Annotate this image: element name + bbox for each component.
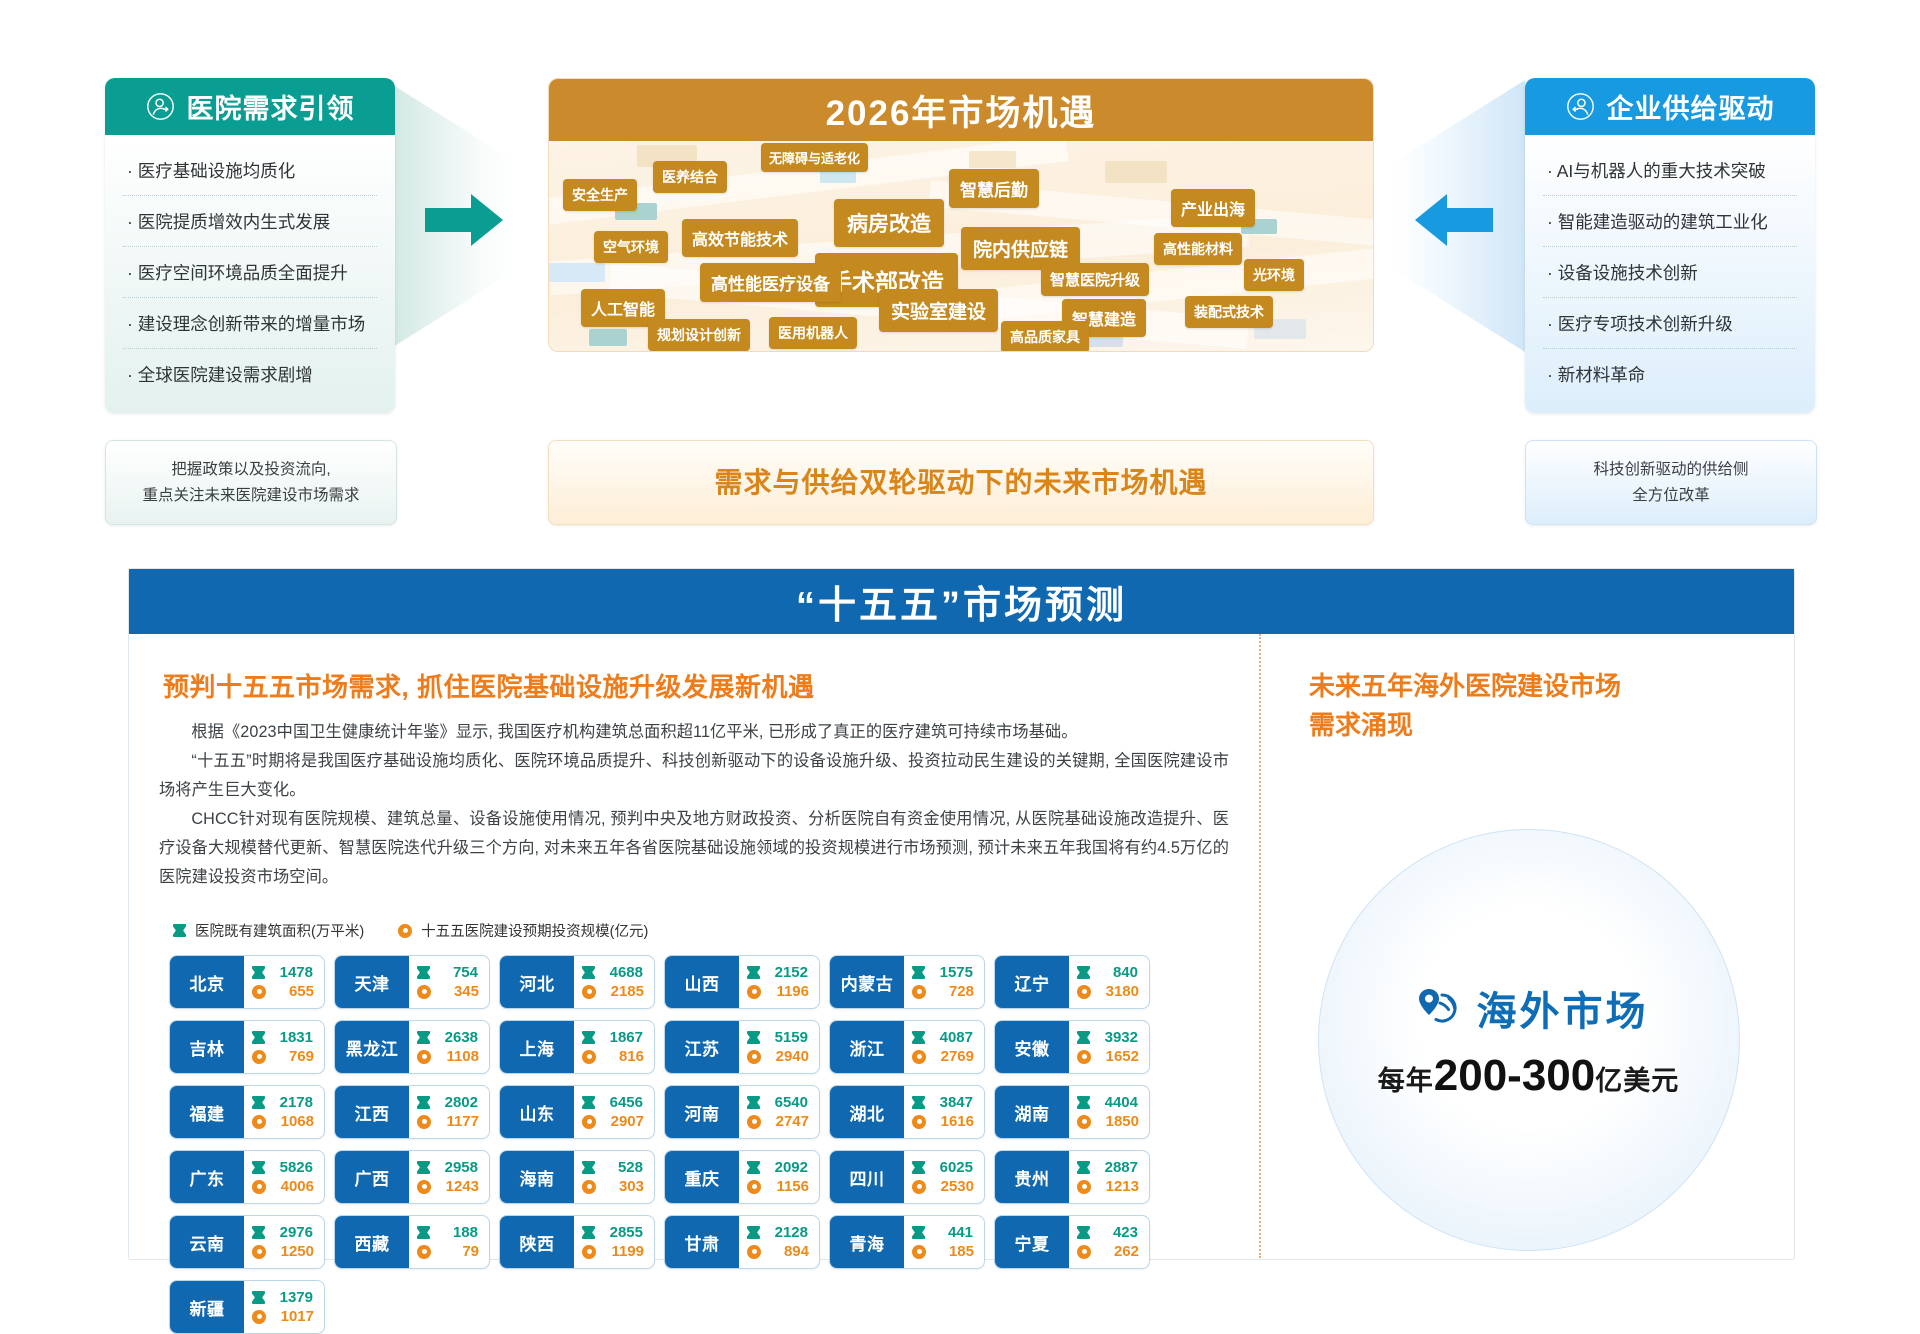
left-footer-note: 把握政策以及投资流向, 重点关注未来医院建设市场需求 (105, 440, 397, 525)
supply-item: · 设备设施技术创新 (1543, 247, 1797, 298)
province-investment-value: 2769 (932, 1048, 974, 1065)
province-values: 754345 (409, 956, 489, 1008)
area-marker-icon (747, 1226, 760, 1239)
province-area-value: 441 (931, 1224, 973, 1241)
province-values: 1831769 (244, 1021, 324, 1073)
province-investment-value: 303 (602, 1178, 644, 1195)
forecast-left-column: 预判十五五市场需求, 抓住医院基础设施升级发展新机遇 根据《2023中国卫生健康… (129, 634, 1259, 1258)
province-card: 西藏18879 (334, 1215, 490, 1269)
province-investment-value: 769 (272, 1048, 314, 1065)
overseas-title-line1: 未来五年海外医院建设市场 (1309, 667, 1794, 706)
left-footer-line2: 重点关注未来医院建设市场需求 (142, 483, 359, 509)
investment-marker-icon (417, 1245, 431, 1259)
overseas-title-line2: 需求涌现 (1309, 706, 1794, 745)
keyword-tag: 医用机器人 (769, 317, 857, 349)
legend-item-area: 医院既有建筑面积(万平米) (173, 920, 364, 941)
province-investment-row: 345 (417, 983, 479, 1000)
province-values: 38471616 (904, 1086, 984, 1138)
province-area-row: 5159 (747, 1029, 809, 1046)
province-area-row: 3847 (912, 1094, 974, 1111)
province-card: 湖北38471616 (829, 1085, 985, 1139)
province-investment-value: 1652 (1097, 1048, 1139, 1065)
province-investment-row: 1177 (417, 1113, 479, 1130)
province-name: 河北 (500, 956, 574, 1008)
investment-marker-icon (912, 1115, 926, 1129)
province-investment-row: 4006 (252, 1178, 314, 1195)
province-values: 40872769 (904, 1021, 984, 1073)
province-investment-row: 1250 (252, 1243, 314, 1260)
province-name: 海南 (500, 1151, 574, 1203)
arrow-right-icon (425, 192, 503, 248)
province-investment-value: 1156 (767, 1178, 809, 1195)
market-forecast-body: 预判十五五市场需求, 抓住医院基础设施升级发展新机遇 根据《2023中国卫生健康… (129, 634, 1794, 1258)
province-card: 天津754345 (334, 955, 490, 1009)
block-decoration (1105, 161, 1167, 183)
investment-marker-icon (582, 1115, 596, 1129)
amount-value: 200-300 (1434, 1051, 1595, 1100)
province-investment-value: 3180 (1097, 983, 1139, 1000)
keyword-tag: 高性能材料 (1154, 233, 1242, 265)
province-area-row: 4404 (1077, 1094, 1139, 1111)
province-area-row: 2152 (747, 964, 809, 981)
keyword-tag: 医养结合 (653, 161, 727, 193)
province-area-value: 2887 (1096, 1159, 1138, 1176)
province-card: 四川60252530 (829, 1150, 985, 1204)
investment-marker-icon (252, 1180, 266, 1194)
province-investment-row: 1017 (252, 1308, 314, 1325)
area-marker-icon (747, 1161, 760, 1174)
province-area-row: 1867 (582, 1029, 644, 1046)
province-values: 58264006 (244, 1151, 324, 1203)
overseas-circle: 海外市场 每年200-300亿美元 (1318, 829, 1740, 1251)
province-area-row: 2976 (252, 1224, 314, 1241)
area-marker-icon (252, 1226, 265, 1239)
province-investment-row: 769 (252, 1048, 314, 1065)
province-investment-row: 2185 (582, 983, 644, 1000)
province-area-row: 4688 (582, 964, 644, 981)
province-card: 陕西28551199 (499, 1215, 655, 1269)
demand-item: · 医院提质增效内生式发展 (123, 196, 377, 247)
investment-marker-icon (1077, 985, 1091, 999)
province-area-value: 4087 (931, 1029, 973, 1046)
province-area-value: 2092 (766, 1159, 808, 1176)
province-name: 河南 (665, 1086, 739, 1138)
province-investment-value: 1243 (437, 1178, 479, 1195)
market-forecast-header: “十五五”市场预测 (129, 569, 1794, 634)
demand-item: · 全球医院建设需求剧增 (123, 349, 377, 399)
investment-marker-icon (912, 1245, 926, 1259)
province-investment-value: 2185 (602, 983, 644, 1000)
market-opportunity-header: 2026年市场机遇 (549, 79, 1373, 141)
area-marker-icon (582, 1226, 595, 1239)
investment-marker-icon (747, 985, 761, 999)
hospital-demand-panel-title: 医院需求引领 (187, 87, 355, 126)
province-values: 18879 (409, 1216, 489, 1268)
investment-marker-icon (747, 1115, 761, 1129)
province-area-value: 2128 (766, 1224, 808, 1241)
province-investment-value: 2530 (932, 1178, 974, 1195)
province-area-row: 2178 (252, 1094, 314, 1111)
province-investment-value: 1616 (932, 1113, 974, 1130)
area-marker-icon (417, 1096, 430, 1109)
province-name: 山东 (500, 1086, 574, 1138)
province-area-row: 1379 (252, 1289, 314, 1306)
province-values: 64562907 (574, 1086, 654, 1138)
area-marker-icon (912, 966, 925, 979)
area-marker-icon (417, 1161, 430, 1174)
investment-marker-icon (417, 1115, 431, 1129)
province-area-value: 528 (601, 1159, 643, 1176)
province-investment-value: 345 (437, 983, 479, 1000)
enterprise-supply-panel-title: 企业供给驱动 (1607, 87, 1775, 126)
province-investment-value: 894 (767, 1243, 809, 1260)
province-name: 福建 (170, 1086, 244, 1138)
right-footer-line1: 科技创新驱动的供给侧 (1593, 457, 1748, 483)
province-investment-row: 1652 (1077, 1048, 1139, 1065)
province-card: 辽宁8403180 (994, 955, 1150, 1009)
province-name: 云南 (170, 1216, 244, 1268)
province-investment-row: 2747 (747, 1113, 809, 1130)
supply-item: · 新材料革命 (1543, 349, 1797, 399)
investment-marker-icon (747, 1050, 761, 1064)
province-investment-value: 2907 (602, 1113, 644, 1130)
province-values: 44041850 (1069, 1086, 1149, 1138)
province-name: 甘肃 (665, 1216, 739, 1268)
area-marker-icon (252, 1031, 265, 1044)
arrow-left-icon (1415, 192, 1493, 248)
block-decoration (589, 329, 627, 346)
area-marker-icon (912, 1161, 925, 1174)
province-area-value: 2976 (271, 1224, 313, 1241)
province-values: 528303 (574, 1151, 654, 1203)
province-area-value: 2855 (601, 1224, 643, 1241)
market-forecast-title: “十五五”市场预测 (796, 574, 1127, 629)
amount-suffix: 亿美元 (1595, 1066, 1679, 1096)
investment-marker-icon (912, 1050, 926, 1064)
overseas-circle-wrap: 海外市场 每年200-300亿美元 (1318, 829, 1738, 1249)
province-card: 海南528303 (499, 1150, 655, 1204)
province-area-value: 188 (436, 1224, 478, 1241)
province-area-value: 4404 (1096, 1094, 1138, 1111)
amount-prefix: 每年 (1378, 1066, 1434, 1096)
province-area-row: 2092 (747, 1159, 809, 1176)
province-area-row: 528 (582, 1159, 644, 1176)
enterprise-supply-panel-body: · AI与机器人的重大技术突破 · 智能建造驱动的建筑工业化 · 设备设施技术创… (1525, 135, 1815, 413)
supply-item: · 智能建造驱动的建筑工业化 (1543, 196, 1797, 247)
province-values: 8403180 (1069, 956, 1149, 1008)
province-card: 江苏51592940 (664, 1020, 820, 1074)
province-area-value: 5159 (766, 1029, 808, 1046)
investment-marker-icon (582, 1245, 596, 1259)
province-name: 江西 (335, 1086, 409, 1138)
province-area-value: 5826 (271, 1159, 313, 1176)
province-grid: 北京1478655天津754345河北46882185山西21521196内蒙古… (169, 955, 1229, 1334)
province-area-value: 1478 (271, 964, 313, 981)
province-values: 21521196 (739, 956, 819, 1008)
province-area-row: 2638 (417, 1029, 479, 1046)
overseas-label-row: 海外市场 (1409, 979, 1649, 1037)
province-area-value: 4688 (601, 964, 643, 981)
province-values: 1867816 (574, 1021, 654, 1073)
province-card: 福建21781068 (169, 1085, 325, 1139)
province-area-value: 1575 (931, 964, 973, 981)
investment-marker-icon (582, 985, 596, 999)
province-area-row: 6025 (912, 1159, 974, 1176)
province-area-value: 3847 (931, 1094, 973, 1111)
investment-marker-icon (1077, 1180, 1091, 1194)
province-name: 广西 (335, 1151, 409, 1203)
user-supply-icon (1566, 92, 1595, 121)
investment-marker-icon (1077, 1050, 1091, 1064)
province-name: 辽宁 (995, 956, 1069, 1008)
province-investment-row: 816 (582, 1048, 644, 1065)
province-investment-row: 1068 (252, 1113, 314, 1130)
area-marker-icon (912, 1226, 925, 1239)
province-investment-row: 303 (582, 1178, 644, 1195)
province-name: 上海 (500, 1021, 574, 1073)
province-investment-row: 2769 (912, 1048, 974, 1065)
investment-marker-icon (1077, 1245, 1091, 1259)
province-area-value: 754 (436, 964, 478, 981)
demand-item: · 医疗基础设施均质化 (123, 145, 377, 196)
province-investment-value: 1213 (1097, 1178, 1139, 1195)
province-area-value: 6540 (766, 1094, 808, 1111)
province-area-row: 1575 (912, 964, 974, 981)
province-area-row: 3932 (1077, 1029, 1139, 1046)
investment-marker-icon (417, 985, 431, 999)
province-values: 1575728 (904, 956, 984, 1008)
province-card: 黑龙江26381108 (334, 1020, 490, 1074)
investment-marker-icon (912, 1180, 926, 1194)
investment-marker-icon (912, 985, 926, 999)
province-card: 上海1867816 (499, 1020, 655, 1074)
province-name: 贵州 (995, 1151, 1069, 1203)
forecast-subtitle: 预判十五五市场需求, 抓住医院基础设施升级发展新机遇 (163, 667, 1229, 704)
area-marker-icon (252, 1096, 265, 1109)
province-investment-row: 1196 (747, 983, 809, 1000)
province-investment-row: 894 (747, 1243, 809, 1260)
province-values: 51592940 (739, 1021, 819, 1073)
province-values: 20921156 (739, 1151, 819, 1203)
province-name: 北京 (170, 956, 244, 1008)
province-investment-value: 2747 (767, 1113, 809, 1130)
province-investment-row: 3180 (1077, 983, 1139, 1000)
investment-marker-icon (417, 1180, 431, 1194)
forecast-paragraph: “十五五”时期将是我国医疗基础设施均质化、医院环境品质提升、科技创新驱动下的设备… (159, 747, 1229, 805)
keyword-tag: 高品质家具 (1001, 321, 1089, 351)
province-card: 内蒙古1575728 (829, 955, 985, 1009)
province-investment-value: 79 (437, 1243, 479, 1260)
area-marker-icon (1077, 966, 1090, 979)
block-decoration (969, 151, 1016, 168)
province-values: 441185 (904, 1216, 984, 1268)
province-area-row: 2855 (582, 1224, 644, 1241)
province-card: 浙江40872769 (829, 1020, 985, 1074)
province-investment-value: 4006 (272, 1178, 314, 1195)
province-area-row: 2958 (417, 1159, 479, 1176)
forecast-right-column: 未来五年海外医院建设市场 需求涌现 海外市场 (1259, 634, 1794, 1258)
province-name: 西藏 (335, 1216, 409, 1268)
area-marker-icon (417, 1031, 430, 1044)
province-investment-row: 655 (252, 983, 314, 1000)
right-footer-note: 科技创新驱动的供给侧 全方位改革 (1525, 440, 1817, 525)
province-values: 2128894 (739, 1216, 819, 1268)
province-investment-row: 1213 (1077, 1178, 1139, 1195)
supply-item: · 医疗专项技术创新升级 (1543, 298, 1797, 349)
province-area-row: 840 (1077, 964, 1139, 981)
investment-marker-icon (252, 1310, 266, 1324)
keyword-tag: 高性能医疗设备 (700, 263, 841, 302)
market-opportunity-title: 2026年市场机遇 (826, 85, 1097, 136)
investment-marker-icon (417, 1050, 431, 1064)
province-card: 河北46882185 (499, 955, 655, 1009)
province-values: 28021177 (409, 1086, 489, 1138)
province-area-value: 423 (1096, 1224, 1138, 1241)
province-card: 吉林1831769 (169, 1020, 325, 1074)
hospital-demand-panel-body: · 医疗基础设施均质化 · 医院提质增效内生式发展 · 医疗空间环境品质全面提升… (105, 135, 395, 413)
top-section: 医院需求引领 · 医疗基础设施均质化 · 医院提质增效内生式发展 · 医疗空间环… (0, 0, 1920, 545)
province-investment-value: 262 (1097, 1243, 1139, 1260)
province-area-value: 1831 (271, 1029, 313, 1046)
province-investment-row: 2530 (912, 1178, 974, 1195)
overseas-title: 未来五年海外医院建设市场 需求涌现 (1309, 667, 1794, 745)
province-name: 陕西 (500, 1216, 574, 1268)
legend-item-investment: 十五五医院建设预期投资规模(亿元) (398, 920, 648, 941)
province-name: 内蒙古 (830, 956, 904, 1008)
province-values: 60252530 (904, 1151, 984, 1203)
legend-label-investment: 十五五医院建设预期投资规模(亿元) (421, 920, 648, 941)
province-name: 黑龙江 (335, 1021, 409, 1073)
area-marker-icon (582, 1031, 595, 1044)
province-investment-value: 185 (932, 1243, 974, 1260)
province-card: 广东58264006 (169, 1150, 325, 1204)
province-name: 天津 (335, 956, 409, 1008)
right-footer-line2: 全方位改革 (1632, 483, 1710, 509)
keyword-tag: 病房改造 (834, 199, 944, 247)
province-area-row: 6540 (747, 1094, 809, 1111)
province-investment-value: 2940 (767, 1048, 809, 1065)
center-footer-text: 需求与供给双轮驱动下的未来市场机遇 (714, 470, 1207, 496)
keyword-tag: 规划设计创新 (648, 319, 750, 351)
left-footer-line1: 把握政策以及投资流向, (171, 457, 330, 483)
province-investment-value: 1850 (1097, 1113, 1139, 1130)
province-name: 安徽 (995, 1021, 1069, 1073)
province-card: 宁夏423262 (994, 1215, 1150, 1269)
area-marker-icon (1077, 1096, 1090, 1109)
province-values: 1478655 (244, 956, 324, 1008)
province-area-row: 188 (417, 1224, 479, 1241)
area-marker-icon (582, 1161, 595, 1174)
province-investment-row: 728 (912, 983, 974, 1000)
province-investment-row: 1850 (1077, 1113, 1139, 1130)
area-marker-icon (1077, 1031, 1090, 1044)
demand-item: · 建设理念创新带来的增量市场 (123, 298, 377, 349)
investment-marker-icon (252, 985, 266, 999)
province-investment-value: 1250 (272, 1243, 314, 1260)
province-area-value: 840 (1096, 964, 1138, 981)
user-demand-icon (146, 92, 175, 121)
province-values: 29581243 (409, 1151, 489, 1203)
province-area-value: 3932 (1096, 1029, 1138, 1046)
area-marker-icon (252, 966, 265, 979)
province-investment-row: 2940 (747, 1048, 809, 1065)
province-investment-row: 79 (417, 1243, 479, 1260)
province-card: 安徽39321652 (994, 1020, 1150, 1074)
investment-marker-icon (1077, 1115, 1091, 1129)
province-name: 湖南 (995, 1086, 1069, 1138)
province-values: 39321652 (1069, 1021, 1149, 1073)
area-marker-icon (747, 1031, 760, 1044)
keyword-tag: 高效节能技术 (682, 219, 798, 257)
province-values: 21781068 (244, 1086, 324, 1138)
province-area-row: 6456 (582, 1094, 644, 1111)
province-area-value: 2802 (436, 1094, 478, 1111)
province-area-row: 2802 (417, 1094, 479, 1111)
province-name: 吉林 (170, 1021, 244, 1073)
province-investment-value: 816 (602, 1048, 644, 1065)
province-investment-row: 1108 (417, 1048, 479, 1065)
province-area-value: 6025 (931, 1159, 973, 1176)
province-values: 65402747 (739, 1086, 819, 1138)
province-area-row: 2128 (747, 1224, 809, 1241)
investment-marker-icon (252, 1245, 266, 1259)
province-values: 46882185 (574, 956, 654, 1008)
investment-marker-icon (747, 1180, 761, 1194)
province-card: 云南29761250 (169, 1215, 325, 1269)
keyword-tag: 智慧后勤 (949, 169, 1039, 208)
province-investment-row: 1199 (582, 1243, 644, 1260)
hospital-demand-panel: 医院需求引领 · 医疗基础设施均质化 · 医院提质增效内生式发展 · 医疗空间环… (105, 78, 395, 413)
province-name: 宁夏 (995, 1216, 1069, 1268)
province-area-row: 4087 (912, 1029, 974, 1046)
chart-legend: 医院既有建筑面积(万平米) 十五五医院建设预期投资规模(亿元) (173, 920, 1229, 941)
area-marker-icon (252, 1161, 265, 1174)
province-investment-row: 2907 (582, 1113, 644, 1130)
area-marker-icon (1077, 1161, 1090, 1174)
forecast-paragraph: CHCC针对现有医院规模、建筑总量、设备设施使用情况, 预判中央及地方财政投资、… (159, 805, 1229, 892)
province-area-row: 1478 (252, 964, 314, 981)
province-values: 13791017 (244, 1281, 324, 1333)
area-marker-icon (417, 966, 430, 979)
province-investment-row: 185 (912, 1243, 974, 1260)
legend-label-area: 医院既有建筑面积(万平米) (195, 920, 364, 941)
keyword-tag: 光环境 (1244, 259, 1304, 291)
globe-location-icon (1409, 981, 1463, 1035)
investment-marker-icon (582, 1050, 596, 1064)
province-investment-row: 1243 (417, 1178, 479, 1195)
province-name: 四川 (830, 1151, 904, 1203)
province-investment-value: 1068 (272, 1113, 314, 1130)
overseas-amount: 每年200-300亿美元 (1378, 1051, 1679, 1101)
province-values: 29761250 (244, 1216, 324, 1268)
province-investment-value: 1196 (767, 983, 809, 1000)
overseas-market-label: 海外市场 (1477, 979, 1649, 1037)
province-card: 广西29581243 (334, 1150, 490, 1204)
province-area-row: 5826 (252, 1159, 314, 1176)
province-area-value: 2178 (271, 1094, 313, 1111)
area-marker-icon (747, 1096, 760, 1109)
province-card: 江西28021177 (334, 1085, 490, 1139)
keyword-tag: 无障碍与适老化 (761, 143, 868, 172)
keyword-tag: 产业出海 (1171, 189, 1255, 227)
province-name: 江苏 (665, 1021, 739, 1073)
province-investment-value: 728 (932, 983, 974, 1000)
province-card: 青海441185 (829, 1215, 985, 1269)
province-card: 山西21521196 (664, 955, 820, 1009)
investment-marker-icon (398, 924, 412, 938)
keyword-tag: 安全生产 (563, 179, 637, 211)
market-forecast-section: “十五五”市场预测 预判十五五市场需求, 抓住医院基础设施升级发展新机遇 根据《… (128, 568, 1795, 1260)
